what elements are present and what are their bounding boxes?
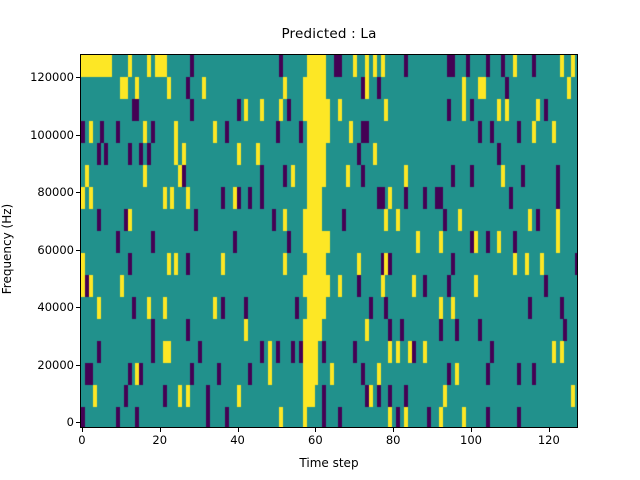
x-tick-mark bbox=[549, 428, 550, 432]
x-axis-label: Time step bbox=[80, 456, 578, 470]
y-tick-label: 80000 bbox=[6, 185, 74, 199]
y-tick-label: 120000 bbox=[6, 70, 74, 84]
heatmap-axes[interactable] bbox=[80, 54, 578, 428]
page-title: Predicted : La bbox=[80, 26, 578, 42]
x-tick-label: 0 bbox=[52, 433, 112, 447]
y-tick-label: 0 bbox=[6, 415, 74, 429]
y-tick-label: 40000 bbox=[6, 300, 74, 314]
x-tick-label: 120 bbox=[519, 433, 579, 447]
x-tick-label: 40 bbox=[208, 433, 268, 447]
x-tick-label: 100 bbox=[441, 433, 501, 447]
x-tick-label: 60 bbox=[285, 433, 345, 447]
x-tick-label: 20 bbox=[130, 433, 190, 447]
x-tick-mark bbox=[393, 428, 394, 432]
y-tick-label: 100000 bbox=[6, 128, 74, 142]
y-tick-label: 20000 bbox=[6, 358, 74, 372]
x-tick-mark bbox=[315, 428, 316, 432]
spectrogram-heatmap bbox=[81, 55, 578, 428]
x-tick-mark bbox=[471, 428, 472, 432]
x-tick-label: 80 bbox=[363, 433, 423, 447]
x-tick-mark bbox=[82, 428, 83, 432]
x-tick-mark bbox=[160, 428, 161, 432]
y-tick-label: 60000 bbox=[6, 243, 74, 257]
x-tick-mark bbox=[238, 428, 239, 432]
matplotlib-figure: Predicted : La Frequency (Hz) 0200004000… bbox=[0, 0, 640, 480]
